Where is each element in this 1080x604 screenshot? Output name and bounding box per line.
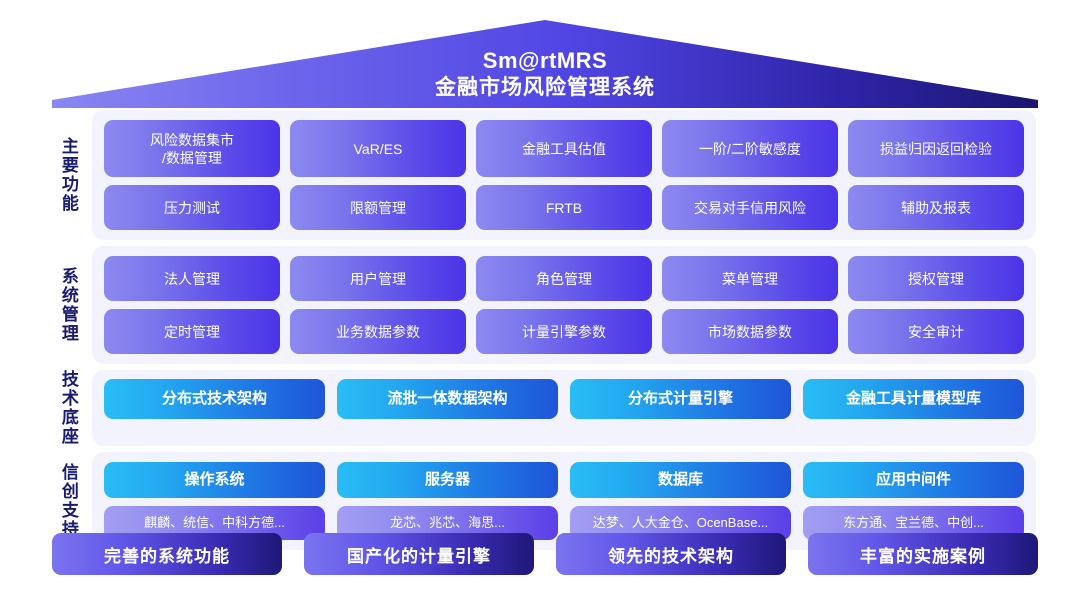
xinchuang-column-database: 数据库 达梦、人大金仓、OcenBase... [570,462,791,540]
card-limit-management[interactable]: 限额管理 [290,185,466,230]
xinchuang-column-server: 服务器 龙芯、兆芯、海思... [337,462,558,540]
card-distributed-calc-engine[interactable]: 分布式计量引擎 [570,379,791,419]
roof-pediment: Sm@rtMRS 金融市场风险管理系统 [52,18,1038,108]
card-application-middleware[interactable]: 应用中间件 [803,462,1024,498]
card-var-es[interactable]: VaR/ES [290,120,466,177]
card-sensitivity[interactable]: 一阶/二阶敏感度 [662,120,838,177]
card-scheduler-management[interactable]: 定时管理 [104,309,280,354]
value-proposition-banner: 完善的系统功能 国产化的计量引擎 领先的技术架构 丰富的实施案例 [52,533,1038,575]
card-database[interactable]: 数据库 [570,462,791,498]
card-counterparty-credit-risk[interactable]: 交易对手信用风险 [662,185,838,230]
banner-rich-implementation-cases[interactable]: 丰富的实施案例 [808,533,1038,575]
card-role-management[interactable]: 角色管理 [476,256,652,301]
architecture-diagram: Sm@rtMRS 金融市场风险管理系统 主要功能 风险数据集市/数据管理 VaR… [0,0,1080,604]
section-label-main-functions: 主要功能 [59,137,77,213]
xinchuang-grid: 操作系统 麒麟、统信、中科方德... 服务器 龙芯、兆芯、海思... 数据库 达… [104,462,1024,540]
card-frtb[interactable]: FRTB [476,185,652,230]
card-distributed-architecture[interactable]: 分布式技术架构 [104,379,325,419]
card-pnl-attribution-backtest[interactable]: 损益归因返回检验 [848,120,1024,177]
layer-stack: 主要功能 风险数据集市/数据管理 VaR/ES 金融工具估值 一阶/二阶敏感度 … [0,110,1080,556]
section-label-wrap: 主要功能 [44,110,92,240]
section-label-system-management: 系统管理 [59,267,77,343]
section-label-wrap: 技术底座 [44,370,92,446]
panel-main-functions: 风险数据集市/数据管理 VaR/ES 金融工具估值 一阶/二阶敏感度 损益归因返… [92,110,1036,240]
section-tech-foundation: 技术底座 分布式技术架构 流批一体数据架构 分布式计量引擎 金融工具计量模型库 [0,370,1080,446]
section-system-management: 系统管理 法人管理 用户管理 角色管理 菜单管理 授权管理 定时管理 业务数据参… [0,246,1080,364]
card-business-data-params[interactable]: 业务数据参数 [290,309,466,354]
card-risk-data-mart[interactable]: 风险数据集市/数据管理 [104,120,280,177]
system-grid-row-2: 定时管理 业务数据参数 计量引擎参数 市场数据参数 安全审计 [104,309,1024,354]
card-stress-test[interactable]: 压力测试 [104,185,280,230]
card-calc-engine-params[interactable]: 计量引擎参数 [476,309,652,354]
card-menu-management[interactable]: 菜单管理 [662,256,838,301]
section-main-functions: 主要功能 风险数据集市/数据管理 VaR/ES 金融工具估值 一阶/二阶敏感度 … [0,110,1080,240]
panel-tech-foundation: 分布式技术架构 流批一体数据架构 分布式计量引擎 金融工具计量模型库 [92,370,1036,446]
section-label-tech-foundation: 技术底座 [59,370,77,446]
tech-grid: 分布式技术架构 流批一体数据架构 分布式计量引擎 金融工具计量模型库 [104,379,1024,419]
roof-shape [52,18,1038,108]
card-authorization-management[interactable]: 授权管理 [848,256,1024,301]
card-operating-system[interactable]: 操作系统 [104,462,325,498]
card-instrument-valuation[interactable]: 金融工具估值 [476,120,652,177]
banner-leading-tech-architecture[interactable]: 领先的技术架构 [556,533,786,575]
xinchuang-column-os: 操作系统 麒麟、统信、中科方德... [104,462,325,540]
section-label-wrap: 系统管理 [44,246,92,364]
banner-complete-system-functions[interactable]: 完善的系统功能 [52,533,282,575]
banner-domestic-calc-engine[interactable]: 国产化的计量引擎 [304,533,534,575]
section-label-xinchuang-support: 信创支持 [59,463,77,539]
panel-system-management: 法人管理 用户管理 角色管理 菜单管理 授权管理 定时管理 业务数据参数 计量引… [92,246,1036,364]
card-legal-entity-management[interactable]: 法人管理 [104,256,280,301]
xinchuang-column-middleware: 应用中间件 东方通、宝兰德、中创... [803,462,1024,540]
card-security-audit[interactable]: 安全审计 [848,309,1024,354]
function-grid-row-2: 压力测试 限额管理 FRTB 交易对手信用风险 辅助及报表 [104,185,1024,230]
card-server[interactable]: 服务器 [337,462,558,498]
card-reports[interactable]: 辅助及报表 [848,185,1024,230]
function-grid-row-1: 风险数据集市/数据管理 VaR/ES 金融工具估值 一阶/二阶敏感度 损益归因返… [104,120,1024,177]
card-instrument-model-library[interactable]: 金融工具计量模型库 [803,379,1024,419]
card-market-data-params[interactable]: 市场数据参数 [662,309,838,354]
card-stream-batch-data-architecture[interactable]: 流批一体数据架构 [337,379,558,419]
card-user-management[interactable]: 用户管理 [290,256,466,301]
system-grid-row-1: 法人管理 用户管理 角色管理 菜单管理 授权管理 [104,256,1024,301]
